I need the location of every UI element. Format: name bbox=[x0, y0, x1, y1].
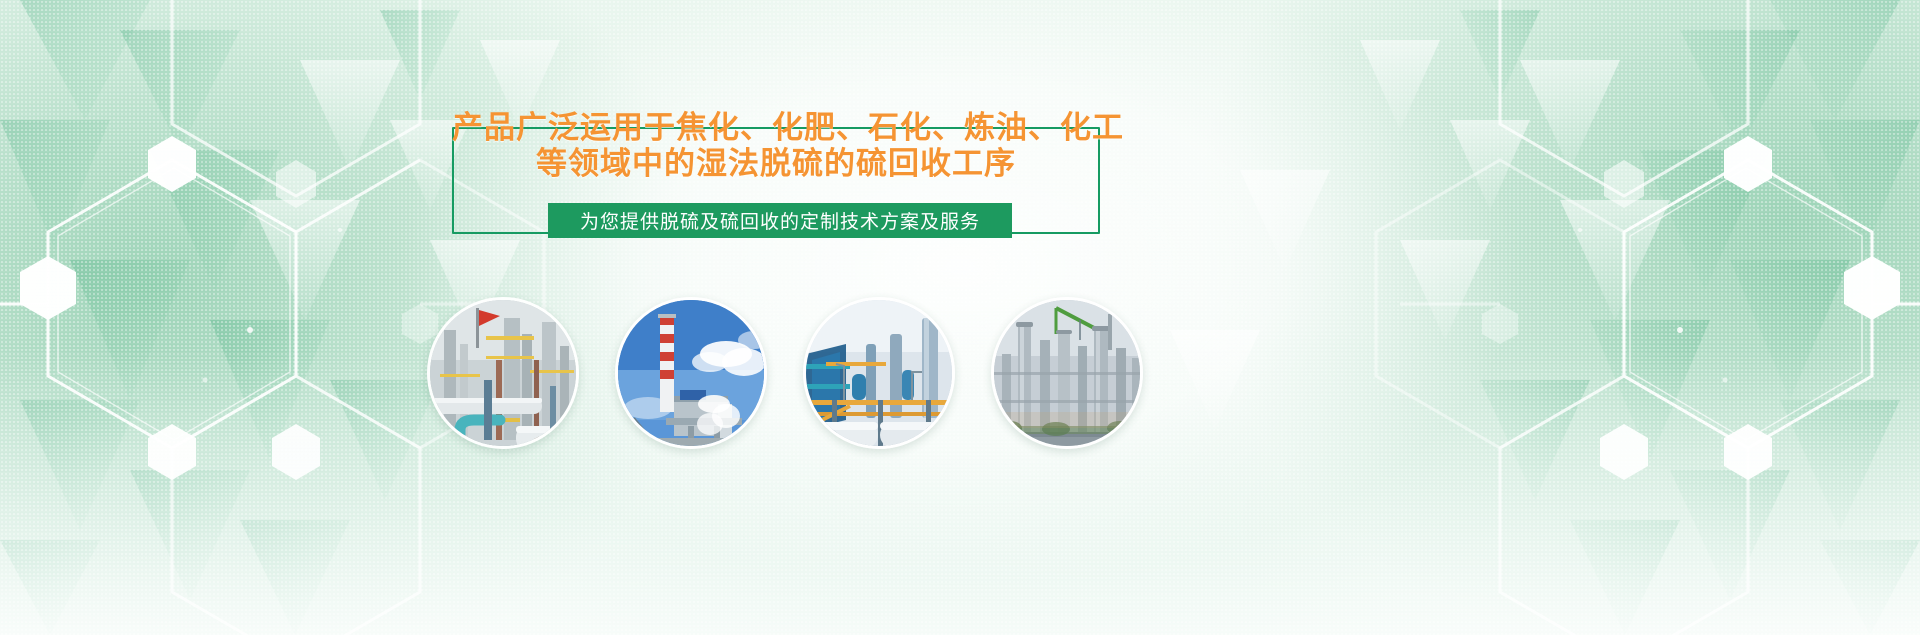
photo-refinery-towers bbox=[994, 300, 1140, 446]
photo-circle-group bbox=[0, 0, 1920, 635]
photo-piping-plant bbox=[430, 300, 576, 446]
photo-4-art bbox=[994, 300, 1140, 446]
photo-circle-4 bbox=[991, 297, 1143, 449]
promo-banner: 产品广泛运用于焦化、化肥、石化、炼油、化工 等领域中的湿法脱硫的硫回收工序 为您… bbox=[0, 0, 1920, 635]
photo-1-art bbox=[430, 300, 576, 446]
photo-3-art bbox=[806, 300, 952, 446]
photo-circle-3 bbox=[803, 297, 955, 449]
photo-2-art bbox=[618, 300, 764, 446]
photo-chimney-stack bbox=[618, 300, 764, 446]
photo-circle-1 bbox=[427, 297, 579, 449]
photo-circle-2 bbox=[615, 297, 767, 449]
frame-notch-top bbox=[500, 121, 1082, 135]
photo-vessels-unit bbox=[806, 300, 952, 446]
